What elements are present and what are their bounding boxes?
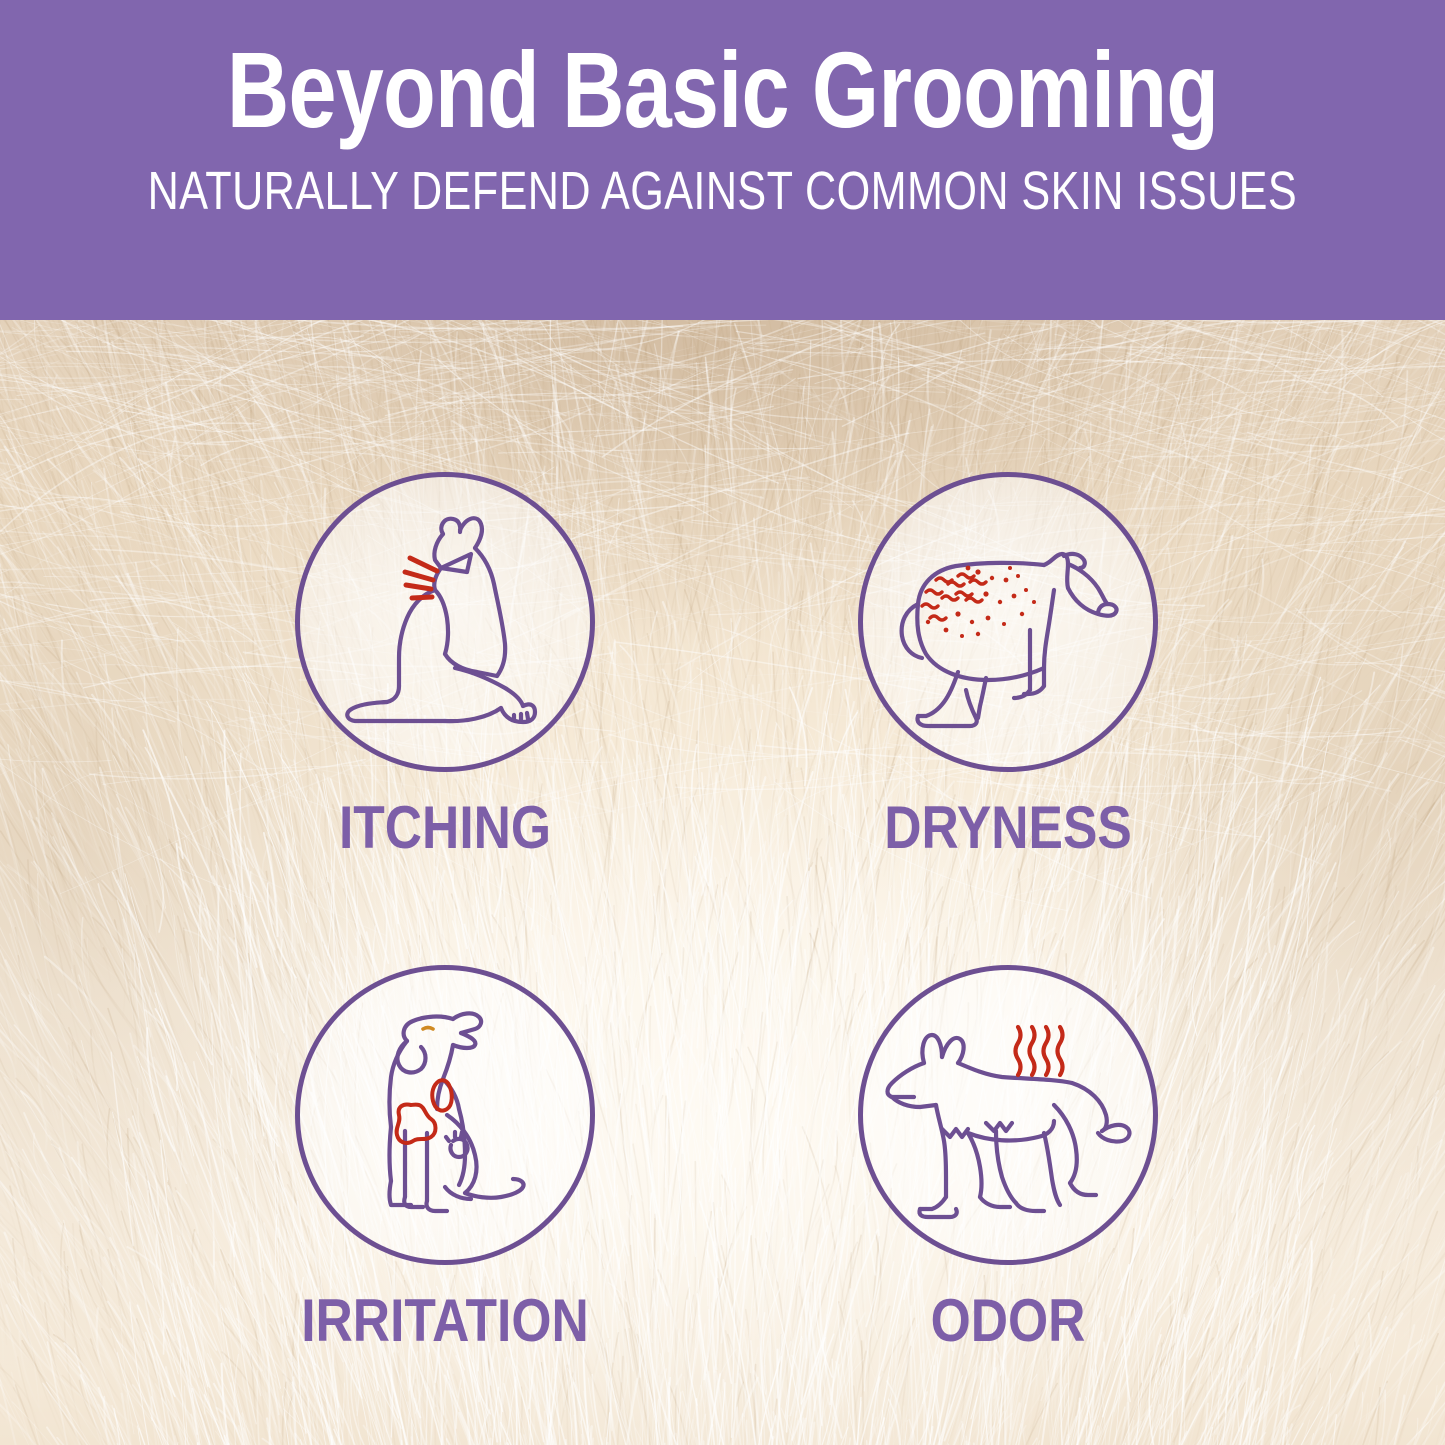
dog-flaky-skin-icon — [858, 472, 1158, 772]
icon-circle-dryness — [858, 472, 1158, 772]
benefit-cell-dryness: DRYNESS — [838, 472, 1178, 858]
dog-odor-icon — [858, 965, 1158, 1265]
dog-irritated-patch-icon — [295, 965, 595, 1265]
benefit-cell-itching: ITCHING — [275, 472, 615, 858]
benefit-label-dryness: DRYNESS — [862, 798, 1154, 858]
eye-mark — [423, 1028, 433, 1030]
page-subtitle: NATURALLY DEFEND AGAINST COMMON SKIN ISS… — [148, 164, 1297, 218]
icon-circle-itching — [295, 472, 595, 772]
benefit-cell-irritation: IRRITATION — [275, 965, 615, 1351]
fur-strands-texture — [0, 320, 1445, 1445]
fur-background — [0, 320, 1445, 1445]
benefit-label-irritation: IRRITATION — [299, 1291, 591, 1351]
flakes — [922, 574, 986, 620]
icon-circle-irritation — [295, 965, 595, 1265]
icon-circle-odor — [858, 965, 1158, 1265]
page-title: Beyond Basic Grooming — [227, 36, 1218, 144]
odor-waves — [1016, 1027, 1063, 1075]
benefit-label-odor: ODOR — [862, 1291, 1154, 1351]
header-banner: Beyond Basic Grooming NATURALLY DEFEND A… — [0, 0, 1445, 320]
benefit-label-itching: ITCHING — [299, 798, 591, 858]
dog-scratching-icon — [295, 472, 595, 772]
benefit-cell-odor: ODOR — [838, 965, 1178, 1351]
product-infographic: Beyond Basic Grooming NATURALLY DEFEND A… — [0, 0, 1445, 1445]
